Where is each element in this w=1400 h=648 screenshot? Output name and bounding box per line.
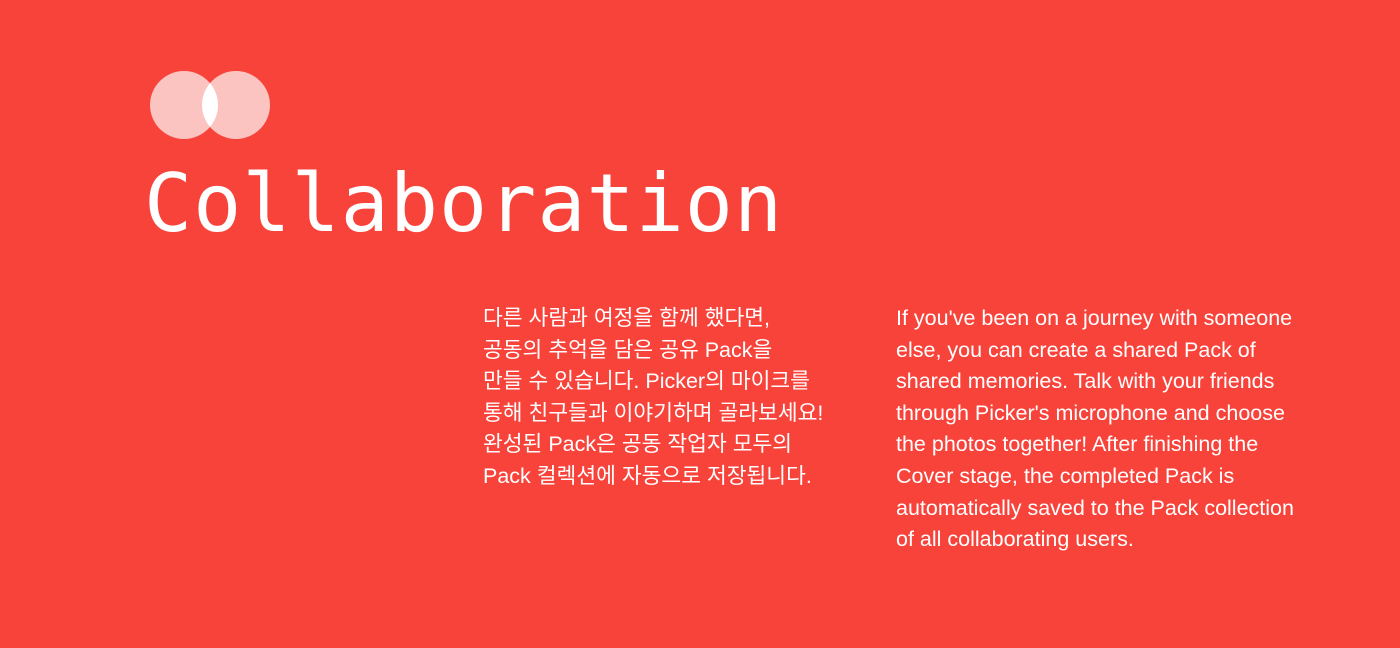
description-korean: 다른 사람과 여정을 함께 했다면, 공동의 추억을 담은 공유 Pack을 만… <box>483 303 863 493</box>
description-english: If you've been on a journey with someone… <box>896 303 1296 556</box>
overlapping-circles-venn-logo <box>148 71 272 139</box>
collaboration-slide: Collaboration 다른 사람과 여정을 함께 했다면, 공동의 추억을… <box>0 0 1400 648</box>
page-title: Collaboration <box>144 160 783 248</box>
